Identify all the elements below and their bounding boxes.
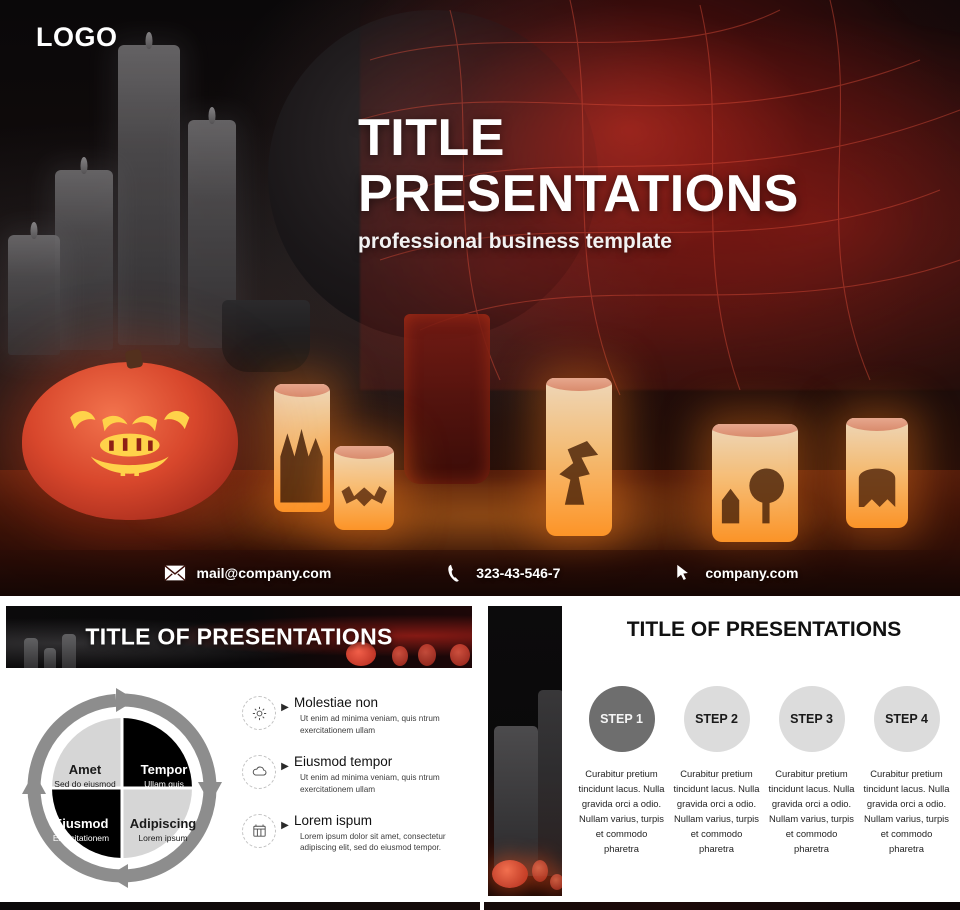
slide-header-band: TITLE OF PRESENTATIONS (6, 606, 472, 668)
step-body: Curabitur pretium tincidunt lacus. Nulla… (863, 766, 950, 856)
cycle-quadrant-title: Eiusmod (38, 816, 124, 831)
slide-right-title: TITLE OF PRESENTATIONS (578, 618, 950, 642)
bullet-arrow-icon: ▶ (276, 702, 294, 713)
cycle-quadrant-title: Tempor (121, 762, 207, 777)
step-item-1[interactable]: STEP 1 Curabitur pretium tincidunt lacus… (574, 686, 669, 856)
slide-left-title: TITLE OF PRESENTATIONS (6, 624, 472, 651)
list-item[interactable]: ▶ Lorem ispum Lorem ipsum dolor sit amet… (242, 812, 468, 855)
contact-bar: mail@company.com 323-43-546-7 company.co… (0, 550, 960, 596)
slide-preview-page: LOGO TITLE PRESENTATIONS professional bu… (0, 0, 960, 910)
cycle-quadrant-subtitle: Lorem ipsum (120, 833, 206, 843)
lantern-jar-tree (712, 424, 798, 542)
list-item[interactable]: ▶ Molestiae non Ut enim ad minima veniam… (242, 694, 468, 737)
slide-photo-strip (488, 606, 562, 896)
bullet-body: Ut enim ad minima veniam, quis ntrum exe… (294, 772, 468, 796)
step-badge: STEP 4 (874, 686, 940, 752)
contact-phone-label: 323-43-546-7 (476, 565, 560, 581)
contact-email-label: mail@company.com (197, 565, 332, 581)
slide-thumbnail-row: TITLE OF PRESENTATIONS (0, 600, 960, 902)
bullet-body: Ut enim ad minima veniam, quis ntrum exe… (294, 713, 468, 737)
list-item[interactable]: ▶ Eiusmod tempor Ut enim ad minima venia… (242, 753, 468, 796)
cloud-icon (242, 755, 276, 789)
cycle-quadrant-tempor: Tempor Ullam quis (121, 762, 207, 789)
contact-phone[interactable]: 323-43-546-7 (441, 562, 560, 584)
lantern-jar-ghost (846, 418, 908, 528)
lantern-jar-witch (546, 378, 612, 536)
cycle-quadrant-subtitle: Sed do eiusmod (42, 779, 128, 789)
step-body: Curabitur pretium tincidunt lacus. Nulla… (768, 766, 855, 856)
step-body: Curabitur pretium tincidunt lacus. Nulla… (578, 766, 665, 856)
step-badge: STEP 2 (684, 686, 750, 752)
bullet-body: Lorem ipsum dolor sit amet, consectetur … (294, 831, 468, 855)
slide-steps[interactable]: TITLE OF PRESENTATIONS STEP 1 Curabitur … (482, 600, 960, 902)
contact-website-label: company.com (705, 565, 798, 581)
cycle-quadrant-subtitle: Exercitationem (38, 833, 124, 843)
cauldron-decoration (222, 300, 310, 372)
carved-pumpkin (22, 362, 238, 520)
slide-cycle-diagram[interactable]: TITLE OF PRESENTATIONS (0, 600, 478, 902)
glass-vase-decoration (404, 314, 490, 484)
bullet-arrow-icon: ▶ (276, 820, 294, 831)
cycle-quadrant-title: Adipiscing (120, 816, 206, 831)
candle-decoration (118, 45, 180, 345)
logo-text[interactable]: LOGO (36, 22, 118, 53)
steps-row: STEP 1 Curabitur pretium tincidunt lacus… (574, 686, 954, 856)
hero-title-line2: PRESENTATIONS (358, 166, 878, 222)
cycle-quadrant-title: Amet (42, 762, 128, 777)
bullet-arrow-icon: ▶ (276, 761, 294, 772)
cycle-quadrant-subtitle: Ullam quis (121, 779, 207, 789)
step-body: Curabitur pretium tincidunt lacus. Nulla… (673, 766, 760, 856)
step-item-4[interactable]: STEP 4 Curabitur pretium tincidunt lacus… (859, 686, 954, 856)
bullet-heading: Eiusmod tempor (294, 754, 392, 769)
bullet-list: ▶ Molestiae non Ut enim ad minima veniam… (228, 682, 468, 894)
candle-decoration (55, 170, 113, 350)
step-badge: STEP 3 (779, 686, 845, 752)
cycle-quadrant-amet: Amet Sed do eiusmod (42, 762, 128, 789)
step-item-3[interactable]: STEP 3 Curabitur pretium tincidunt lacus… (764, 686, 859, 856)
cycle-quadrant-eiusmod: Eiusmod Exercitationem (38, 816, 124, 843)
cycle-diagram: Amet Sed do eiusmod Tempor Ullam quis Ei… (16, 682, 228, 894)
bullet-heading: Lorem ispum (294, 813, 372, 828)
hero-text-block: TITLE PRESENTATIONS professional busines… (358, 110, 878, 254)
gear-icon (242, 696, 276, 730)
footer-band (0, 902, 960, 910)
hero-slide: LOGO TITLE PRESENTATIONS professional bu… (0, 0, 960, 596)
cursor-icon (670, 562, 696, 584)
pumpkin-face-icon (52, 397, 208, 489)
phone-icon (441, 562, 467, 584)
hero-subtitle: professional business template (358, 230, 878, 254)
calendar-icon (242, 814, 276, 848)
envelope-icon (162, 562, 188, 584)
lantern-jar-bat (334, 446, 394, 530)
contact-website[interactable]: company.com (670, 562, 798, 584)
cycle-quadrant-adipiscing: Adipiscing Lorem ipsum (120, 816, 206, 843)
candle-decoration (8, 235, 60, 355)
step-badge: STEP 1 (589, 686, 655, 752)
hero-title-line1: TITLE (358, 110, 878, 166)
bullet-heading: Molestiae non (294, 695, 378, 710)
contact-email[interactable]: mail@company.com (162, 562, 332, 584)
step-item-2[interactable]: STEP 2 Curabitur pretium tincidunt lacus… (669, 686, 764, 856)
lantern-jar-haunted-house (274, 384, 330, 512)
